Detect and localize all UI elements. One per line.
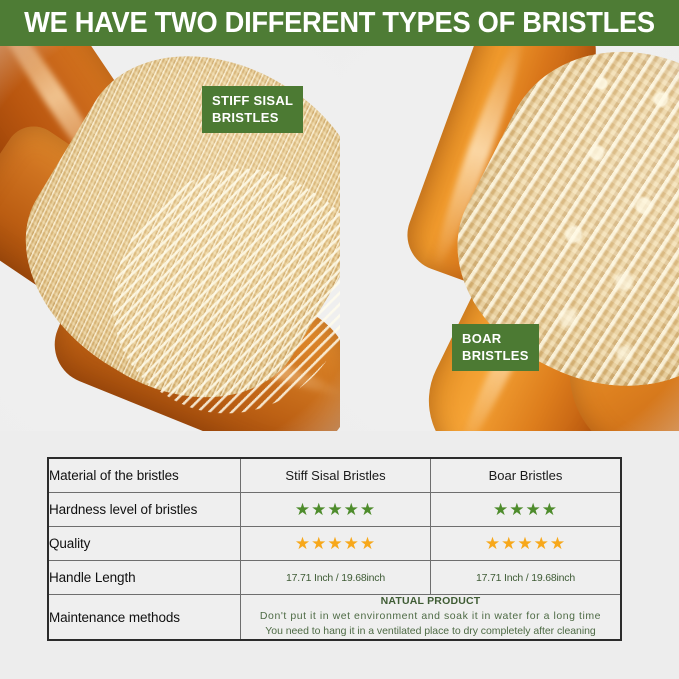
callout-line-2: BRISTLES bbox=[212, 109, 293, 126]
table-header-col2: Boar Bristles bbox=[431, 458, 622, 493]
star-rating-green: ★★★★★ bbox=[295, 501, 376, 518]
star-rating-green: ★★★★ bbox=[493, 501, 558, 518]
table-row-maintenance: Maintenance methods NATUAL PRODUCT Don't… bbox=[48, 595, 621, 641]
callout-line-1: BOAR bbox=[462, 330, 529, 347]
quality-sisal-cell: ★★★★★ bbox=[241, 527, 431, 561]
bristle-comparison-table: Material of the bristles Stiff Sisal Bri… bbox=[47, 457, 622, 641]
handle-length-sisal: 17.71 Inch / 19.68inch bbox=[241, 561, 431, 595]
handle-length-boar: 17.71 Inch / 19.68inch bbox=[431, 561, 622, 595]
table-header-col1: Stiff Sisal Bristles bbox=[241, 458, 431, 493]
hardness-boar-cell: ★★★★ bbox=[431, 493, 622, 527]
callout-stiff-sisal-bristles: STIFF SISAL BRISTLES bbox=[202, 86, 303, 133]
row-label-handle-length: Handle Length bbox=[48, 561, 241, 595]
boar-brush-photo bbox=[340, 46, 679, 431]
comparison-table-wrapper: Material of the bristles Stiff Sisal Bri… bbox=[47, 457, 620, 641]
table-row-quality: Quality ★★★★★ ★★★★★ bbox=[48, 527, 621, 561]
product-photo-band bbox=[0, 46, 679, 431]
row-label-hardness: Hardness level of bristles bbox=[48, 493, 241, 527]
maintenance-line-2: You need to hang it in a ventilated plac… bbox=[241, 624, 620, 639]
page-title: WE HAVE TWO DIFFERENT TYPES OF BRISTLES bbox=[24, 9, 655, 38]
maintenance-line-1: Don't put it in wet environment and soak… bbox=[241, 609, 620, 624]
table-row-hardness: Hardness level of bristles ★★★★★ ★★★★ bbox=[48, 493, 621, 527]
maintenance-title: NATUAL PRODUCT bbox=[241, 595, 620, 607]
star-rating-orange: ★★★★★ bbox=[485, 535, 566, 552]
table-row-handle-length: Handle Length 17.71 Inch / 19.68inch 17.… bbox=[48, 561, 621, 595]
table-header-row: Material of the bristles Stiff Sisal Bri… bbox=[48, 458, 621, 493]
page-bottom-spacer bbox=[0, 646, 679, 679]
callout-line-2: BRISTLES bbox=[462, 347, 529, 364]
maintenance-content-cell: NATUAL PRODUCT Don't put it in wet envir… bbox=[241, 595, 622, 641]
row-label-maintenance: Maintenance methods bbox=[48, 595, 241, 641]
callout-boar-bristles: BOAR BRISTLES bbox=[452, 324, 539, 371]
quality-boar-cell: ★★★★★ bbox=[431, 527, 622, 561]
star-rating-orange: ★★★★★ bbox=[295, 535, 376, 552]
hardness-sisal-cell: ★★★★★ bbox=[241, 493, 431, 527]
header-banner: WE HAVE TWO DIFFERENT TYPES OF BRISTLES bbox=[0, 0, 679, 46]
table-header-label: Material of the bristles bbox=[48, 458, 241, 493]
row-label-quality: Quality bbox=[48, 527, 241, 561]
callout-line-1: STIFF SISAL bbox=[212, 92, 293, 109]
